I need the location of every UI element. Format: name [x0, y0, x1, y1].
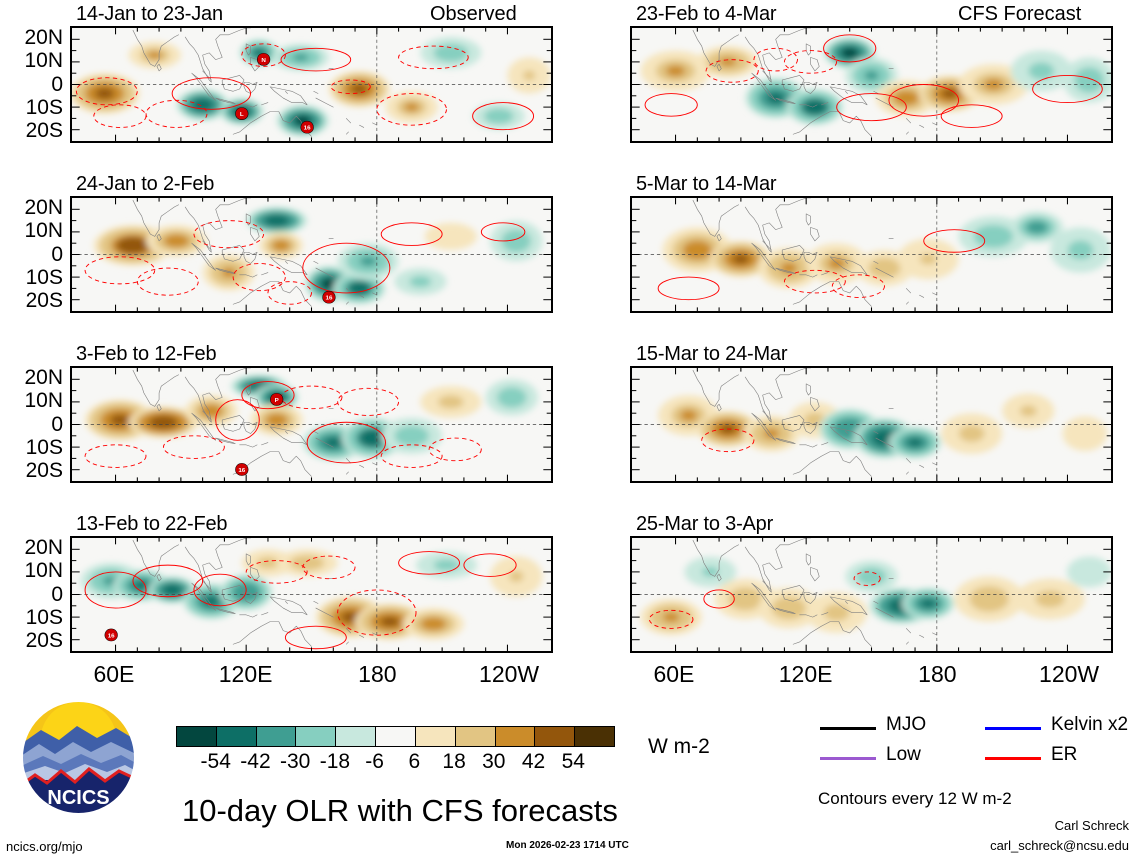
panel-title-fcst-2: 5-Mar to 14-Mar — [636, 173, 776, 196]
ncics-logo-text: NCICS — [47, 787, 109, 809]
legend-line-low — [820, 757, 876, 760]
y-axis-tick-label: 0 — [0, 413, 63, 437]
legend-label-er: ER — [1051, 744, 1077, 766]
svg-text:16: 16 — [325, 296, 333, 302]
map-panel-obs-2[interactable]: 16 — [70, 196, 553, 313]
y-axis-tick-label: 20N — [0, 536, 63, 560]
colorbar-band — [257, 727, 297, 746]
y-axis-tick-label: 20N — [0, 196, 63, 220]
panel-title-obs-3: 3-Feb to 12-Feb — [76, 343, 216, 366]
colorbar-band — [336, 727, 376, 746]
olr-field-svg — [632, 538, 1111, 651]
colorbar-band — [177, 727, 217, 746]
map-panel-fcst-2[interactable] — [630, 196, 1113, 313]
y-axis-tick-label: 0 — [0, 583, 63, 607]
panel-title-obs-2: 24-Jan to 2-Feb — [76, 173, 214, 196]
ncics-logo[interactable]: NCICS — [21, 700, 136, 815]
y-axis-tick-label: 10S — [0, 266, 63, 290]
panel-title-fcst-4: 25-Mar to 3-Apr — [636, 513, 773, 536]
credit-email[interactable]: carl_schreck@ncsu.edu — [835, 838, 1129, 853]
colorbar — [176, 726, 615, 747]
map-panel-fcst-3[interactable] — [630, 366, 1113, 483]
column-header-left: Observed — [430, 3, 517, 26]
x-axis-tick-label: 180 — [343, 661, 411, 688]
map-panel-obs-4[interactable]: 16 — [70, 536, 553, 653]
credit-name: Carl Schreck — [835, 818, 1129, 833]
colorbar-band — [376, 727, 416, 746]
y-axis-tick-label: 20S — [0, 629, 63, 653]
y-axis-tick-label: 0 — [0, 243, 63, 267]
colorbar-tick-label: 54 — [548, 750, 598, 774]
colorbar-band — [575, 727, 614, 746]
y-axis-tick-label: 10N — [0, 389, 63, 413]
y-axis-tick-label: 10S — [0, 606, 63, 630]
olr-field-svg: 16 — [72, 538, 551, 651]
y-axis-tick-label: 10N — [0, 219, 63, 243]
panel-title-obs-1: 14-Jan to 23-Jan — [76, 3, 223, 26]
x-axis-tick-label: 120W — [475, 661, 543, 688]
map-panel-obs-3[interactable]: P16 — [70, 366, 553, 483]
map-panel-fcst-4[interactable] — [630, 536, 1113, 653]
svg-text:16: 16 — [238, 468, 246, 474]
y-axis-tick-label: 10N — [0, 49, 63, 73]
map-panel-fcst-1[interactable] — [630, 26, 1113, 143]
colorbar-band — [456, 727, 496, 746]
render-timestamp: Mon 2026-02-23 1714 UTC — [506, 840, 629, 851]
panel-title-fcst-3: 15-Mar to 24-Mar — [636, 343, 787, 366]
olr-field-svg: NL16 — [72, 28, 551, 141]
svg-text:16: 16 — [304, 126, 312, 132]
legend-label-kelvin-x2: Kelvin x2 — [1051, 714, 1128, 736]
ncics-logo-svg: NCICS — [21, 700, 136, 815]
olr-field-svg — [632, 198, 1111, 311]
x-axis-tick-label: 60E — [80, 661, 148, 688]
x-axis-tick-label: 120E — [212, 661, 280, 688]
site-url[interactable]: ncics.org/mjo — [6, 839, 83, 854]
x-axis-tick-label: 120W — [1035, 661, 1103, 688]
olr-field-svg — [632, 28, 1111, 141]
panel-title-fcst-1: 23-Feb to 4-Mar — [636, 3, 776, 26]
legend-line-er — [985, 757, 1041, 760]
y-axis-tick-label: 20N — [0, 366, 63, 390]
column-header-right: CFS Forecast — [958, 3, 1081, 26]
legend-label-low: Low — [886, 744, 921, 766]
svg-text:L: L — [240, 112, 244, 118]
y-axis-tick-label: 10S — [0, 96, 63, 120]
panel-title-obs-4: 13-Feb to 22-Feb — [76, 513, 227, 536]
y-axis-tick-label: 20S — [0, 289, 63, 313]
map-panel-obs-1[interactable]: NL16 — [70, 26, 553, 143]
legend-label-mjo: MJO — [886, 714, 926, 736]
svg-text:P: P — [275, 398, 279, 404]
colorbar-band — [217, 727, 257, 746]
legend-line-kelvin-x2 — [985, 727, 1041, 730]
y-axis-tick-label: 20S — [0, 119, 63, 143]
x-axis-tick-label: 60E — [640, 661, 708, 688]
y-axis-tick-label: 10S — [0, 436, 63, 460]
olr-field-svg: P16 — [72, 368, 551, 481]
x-axis-tick-label: 180 — [903, 661, 971, 688]
y-axis-tick-label: 20S — [0, 459, 63, 483]
legend-line-mjo — [820, 727, 876, 730]
olr-field-svg: 16 — [72, 198, 551, 311]
colorbar-unit-label: W m-2 — [648, 735, 710, 759]
y-axis-tick-label: 10N — [0, 559, 63, 583]
colorbar-band — [416, 727, 456, 746]
colorbar-band — [496, 727, 536, 746]
x-axis-tick-label: 120E — [772, 661, 840, 688]
contour-interval-note: Contours every 12 W m-2 — [818, 789, 1012, 809]
olr-field-svg — [632, 368, 1111, 481]
colorbar-band — [535, 727, 575, 746]
svg-text:16: 16 — [108, 634, 116, 640]
figure-title: 10-day OLR with CFS forecasts — [182, 793, 618, 829]
colorbar-band — [296, 727, 336, 746]
svg-text:N: N — [261, 58, 265, 64]
y-axis-tick-label: 0 — [0, 73, 63, 97]
y-axis-tick-label: 20N — [0, 26, 63, 50]
